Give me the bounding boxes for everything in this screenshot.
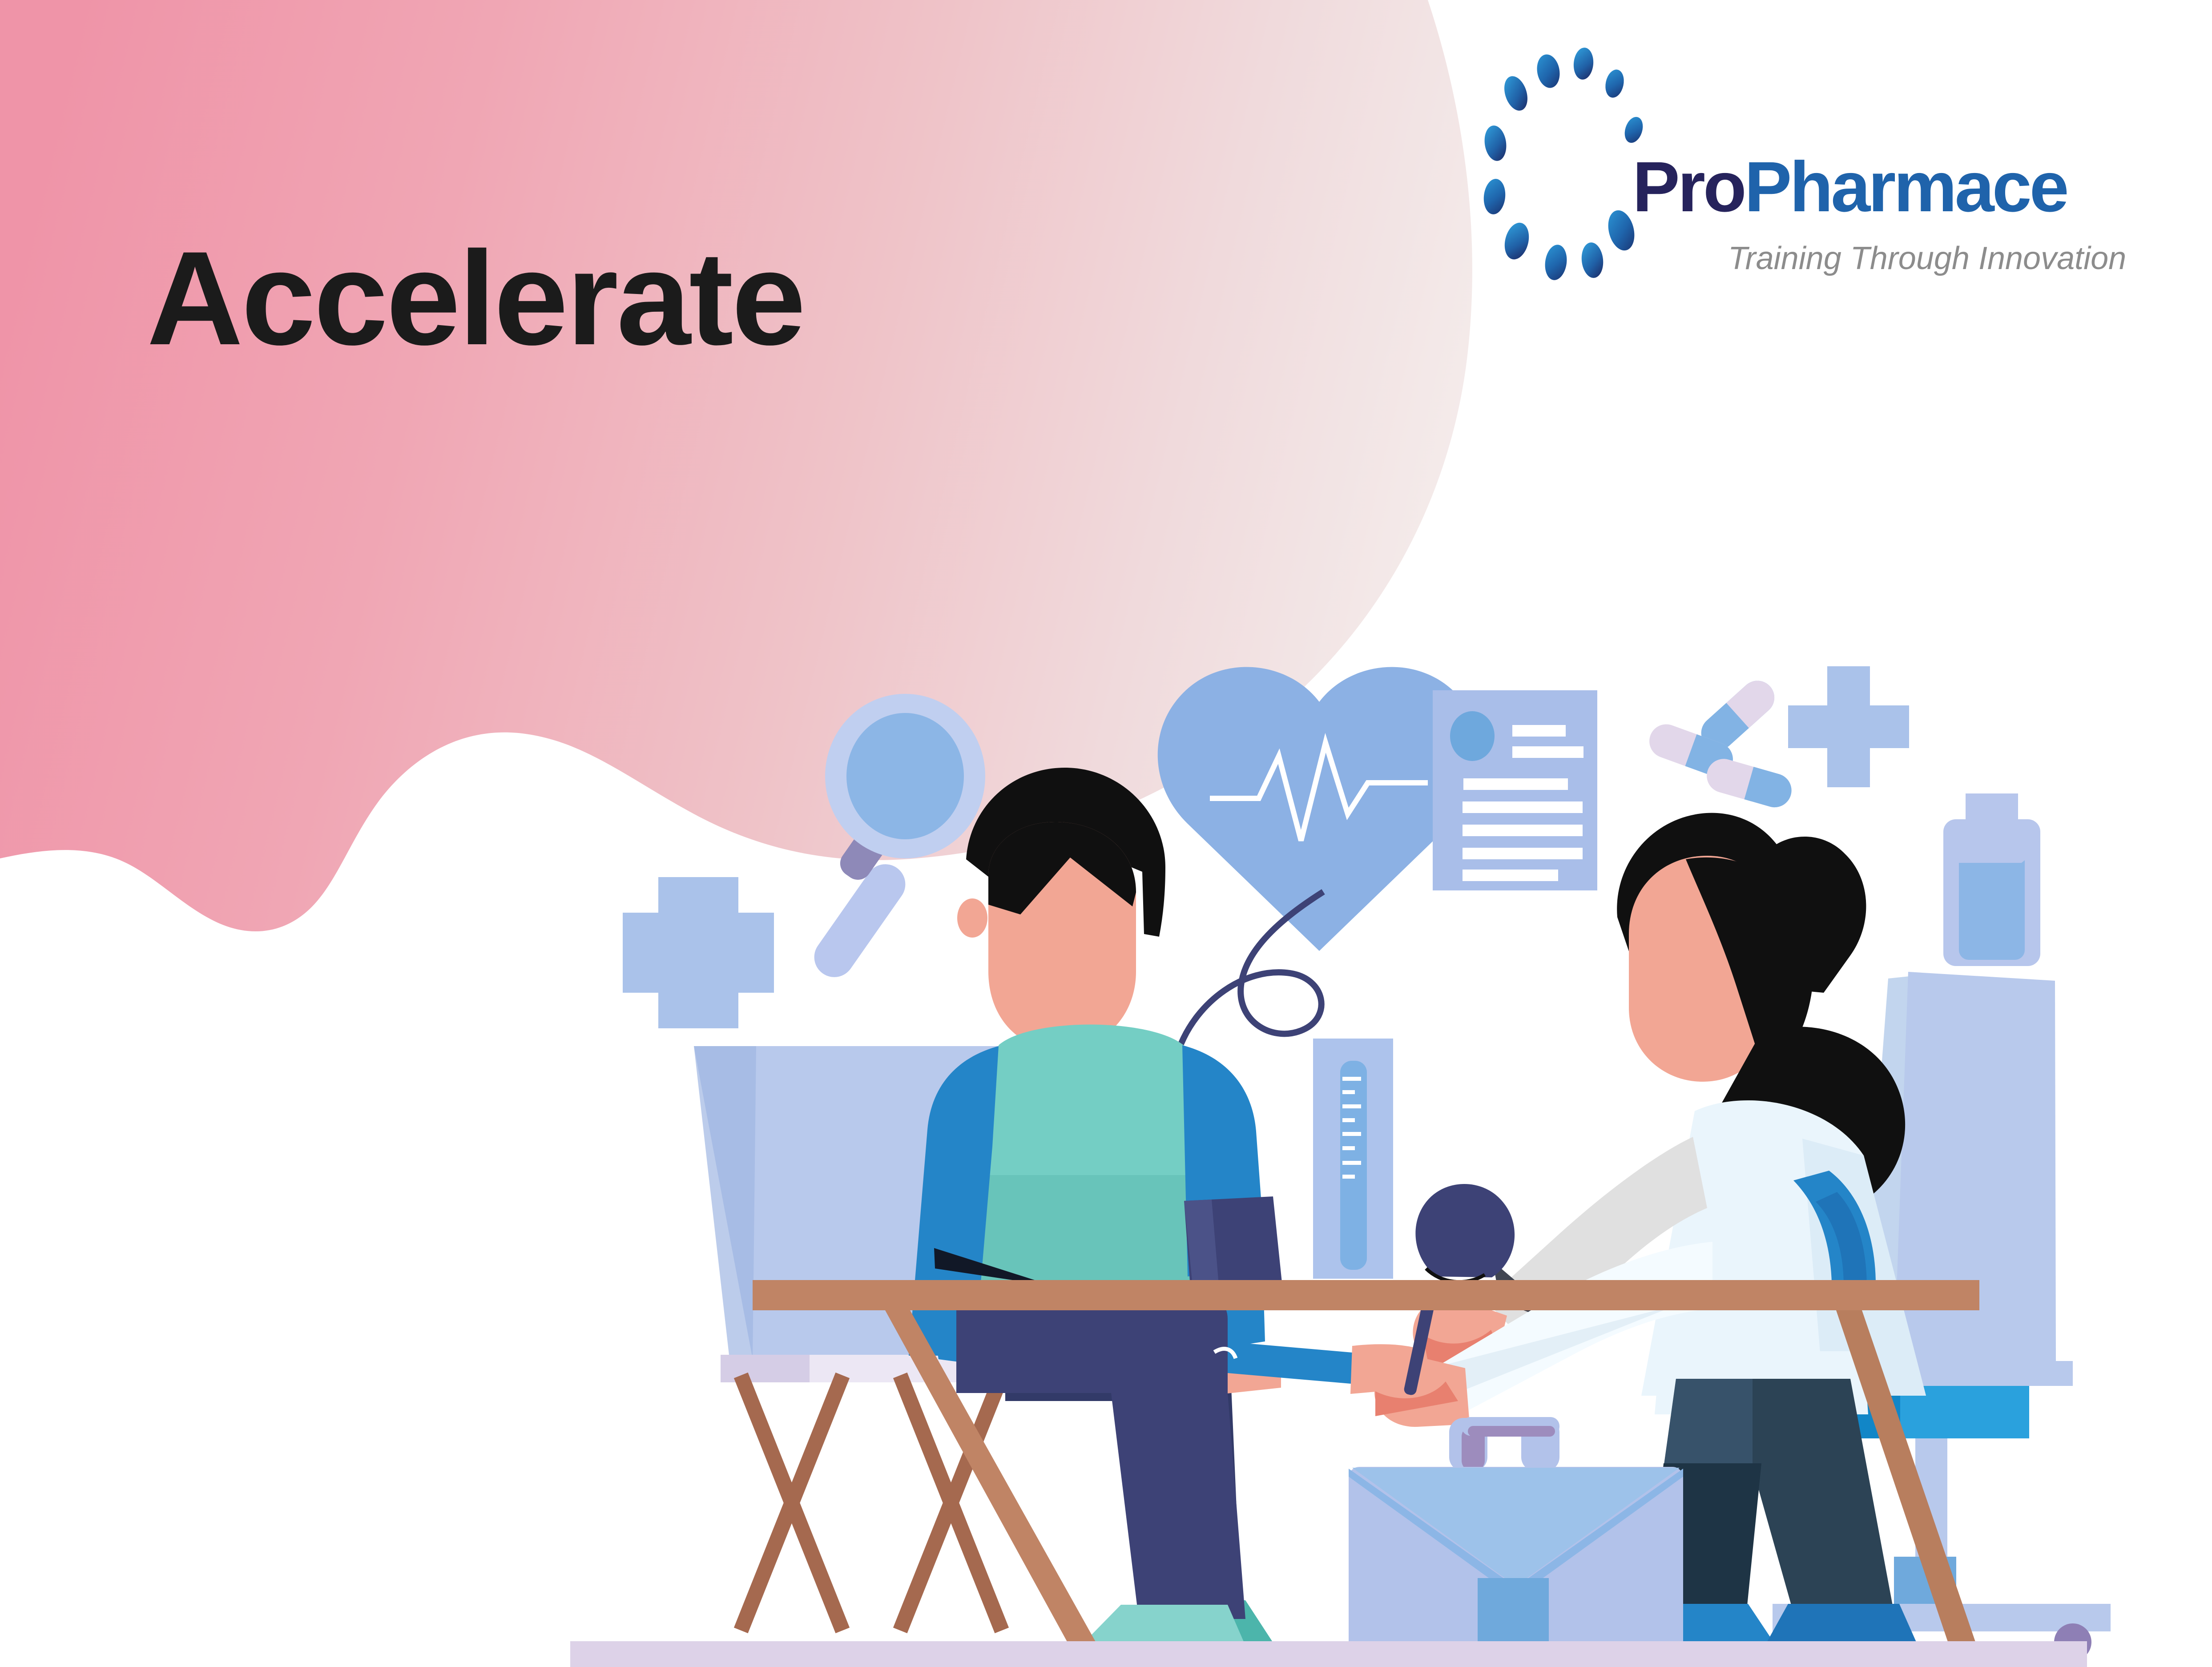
medicine-bottle-icon bbox=[1943, 793, 2040, 966]
medical-consultation-illustration bbox=[0, 0, 2212, 1667]
medical-cross-icon-right bbox=[1788, 666, 1909, 787]
medical-briefcase bbox=[1349, 1417, 1683, 1654]
clipboard-document-icon bbox=[1433, 690, 1597, 890]
heart-ecg-icon bbox=[1158, 667, 1481, 951]
pill-capsules-icon bbox=[1644, 674, 1795, 811]
bulb-pump bbox=[1415, 1184, 1515, 1282]
medical-cross-icon-left bbox=[623, 877, 774, 1028]
sphygmomanometer-gauge bbox=[1313, 1039, 1393, 1279]
slide-canvas: Accelerate ProPharmace Training Through … bbox=[0, 0, 2212, 1667]
search-icon bbox=[806, 694, 985, 985]
floor-strip bbox=[570, 1641, 2087, 1667]
